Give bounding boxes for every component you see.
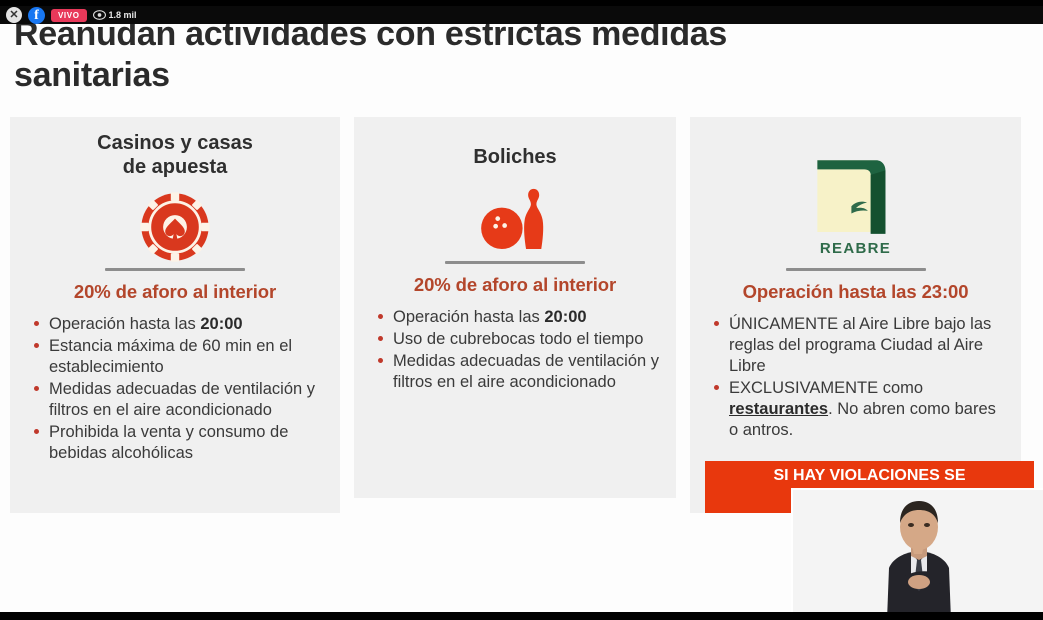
page-title: Reanudan actividades con estrictas medid… [14,14,814,97]
list-item: Operación hasta las 20:00 [28,314,324,335]
sign-language-interpreter-video[interactable] [791,488,1043,612]
cards-row: Casinos y casas de apuesta [10,117,1035,513]
reabre-logo: REABRE [810,146,902,257]
facebook-icon[interactable]: f [28,7,45,24]
reabre-logo-text: REABRE [820,240,891,257]
list-item: Operación hasta las 20:00 [372,307,660,328]
letterbox-bottom [0,612,1043,620]
live-badge: VIVO [51,9,87,22]
bullet-text: Medidas adecuadas de ventilación y filtr… [393,352,659,391]
bullet-text: Operación hasta las [393,308,544,326]
close-icon[interactable]: ✕ [6,7,22,23]
rules-list: Operación hasta las 20:00 Uso de cubrebo… [354,307,676,394]
bullet-text: Uso de cubrebocas todo el tiempo [393,330,643,348]
warning-line1: SI HAY VIOLACIONES SE [715,467,1024,486]
icon-zone: REABRE [690,139,1021,264]
card-casinos: Casinos y casas de apuesta [10,117,340,513]
interpreter-figure [793,490,1043,612]
icon-zone [10,186,340,268]
card-boliches: Boliches 20% de aforo al interior Opera [354,117,676,498]
broadcast-slide: ✕ f VIVO 1.8 mil Reanudan actividades co… [0,6,1043,612]
list-item: ÚNICAMENTE al Aire Libre bajo las reglas… [708,314,1005,377]
bullet-text: Medidas adecuadas de ventilación y filtr… [49,380,315,419]
divider [445,261,585,264]
list-item: Estancia máxima de 60 min en el establec… [28,336,324,378]
card-reabre: REABRE Operación hasta las 23:00 ÚNICAME… [690,117,1021,513]
bullet-text: ÚNICAMENTE al Aire Libre bajo las reglas… [729,315,991,375]
bullet-text: Estancia máxima de 60 min en el establec… [49,337,292,376]
card-title-line1: Casinos y casas [97,132,253,154]
bullet-bold: 20:00 [544,308,586,326]
stream-overlay-bar: ✕ f VIVO 1.8 mil [0,6,1043,24]
viewer-count-label: 1.8 mil [109,10,137,20]
list-item: Uso de cubrebocas todo el tiempo [372,329,660,350]
bullet-text: Operación hasta las [49,315,200,333]
bullet-text: EXCLUSIVAMENTE como [729,379,923,397]
card-title: Boliches [354,145,676,169]
list-item: Medidas adecuadas de ventilación y filtr… [28,379,324,421]
capacity-label: 20% de aforo al interior [354,274,676,296]
list-item: Medidas adecuadas de ventilación y filtr… [372,351,660,393]
casino-chip-icon [140,192,210,262]
reabre-logo-icon [810,146,902,248]
rules-list: ÚNICAMENTE al Aire Libre bajo las reglas… [690,314,1021,442]
icon-zone [354,179,676,261]
divider [786,268,926,271]
bullet-bold: 20:00 [200,315,242,333]
card-title: Casinos y casas de apuesta [10,131,340,180]
card-title-line2: de apuesta [123,156,227,178]
eye-icon [93,10,106,20]
bullet-underline: restaurantes [729,400,828,418]
bullet-text: Prohibida la venta y consumo de bebidas … [49,423,288,462]
list-item: Prohibida la venta y consumo de bebidas … [28,422,324,464]
card-title-line1: Boliches [473,146,556,168]
list-item: EXCLUSIVAMENTE como restaurantes. No abr… [708,378,1005,441]
divider [105,268,245,271]
capacity-label: Operación hasta las 23:00 [690,281,1021,303]
bowling-icon [477,184,553,256]
viewer-count: 1.8 mil [93,10,137,20]
rules-list: Operación hasta las 20:00 Estancia máxim… [10,314,340,465]
capacity-label: 20% de aforo al interior [10,281,340,303]
